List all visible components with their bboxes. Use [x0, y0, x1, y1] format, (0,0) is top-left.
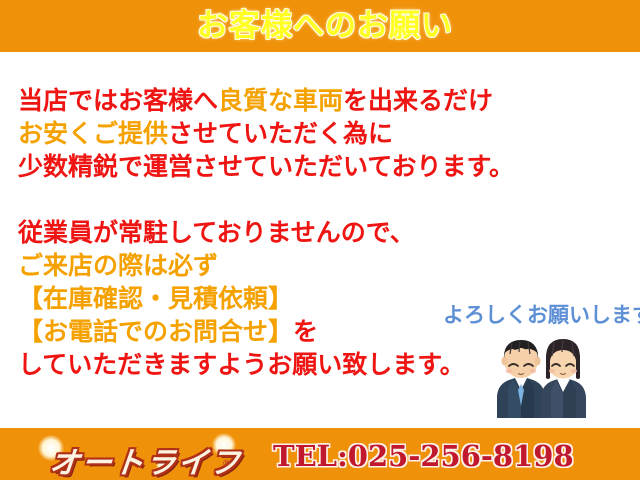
company-logo: オートライフ ®: [36, 433, 251, 477]
copy-segment: を出来るだけ: [343, 86, 493, 115]
two-bowing-people-illustration: [487, 330, 597, 418]
registered-mark-icon: ®: [222, 459, 231, 469]
copy-segment: 当店ではお客様へ: [18, 86, 218, 115]
copy-line-1: 当店ではお客様へ良質な車両を出来るだけ: [18, 84, 622, 117]
thanks-message: よろしくお願いします: [443, 299, 640, 329]
flyer-advertisement: お客様へのお願い 当店ではお客様へ良質な車両を出来るだけ お安くご提供させていた…: [0, 0, 640, 480]
header-banner: お客様へのお願い: [0, 0, 640, 52]
copy-segment: を: [293, 317, 318, 346]
copy-segment: 少数精鋭で運営させていただいております。: [18, 152, 514, 181]
footer-bar: オートライフ ® TEL:025-256-8198: [0, 428, 640, 480]
copy-segment-highlight: 【在庫確認・見積依頼】: [18, 284, 293, 313]
copy-segment: させていただく為に: [168, 119, 393, 148]
copy-segment-highlight: 【お電話でのお問合せ】: [18, 317, 293, 346]
copy-line-5: ご来店の際は必ず: [18, 249, 622, 282]
paragraph-spacer: [18, 183, 622, 216]
page-title: お客様へのお願い: [197, 11, 453, 42]
copy-line-2: お安くご提供させていただく為に: [18, 117, 622, 150]
copy-segment-highlight: 良質な車両: [218, 86, 343, 115]
copy-segment: 従業員が常駐しておりませんので、: [18, 218, 415, 247]
copy-segment-highlight: ご来店の際は必ず: [18, 251, 218, 280]
copy-segment: していただきますようお願い致します。: [18, 350, 465, 379]
copy-line-4: 従業員が常駐しておりませんので、: [18, 216, 622, 249]
bowing-businessman-icon: [497, 340, 545, 418]
telephone-number: TEL:025-256-8198: [273, 439, 574, 473]
copy-line-3: 少数精鋭で運営させていただいております。: [18, 150, 622, 183]
logo-text: オートライフ: [48, 438, 245, 482]
copy-segment-highlight: お安くご提供: [18, 119, 168, 148]
bowing-businesswoman-icon: [541, 339, 586, 418]
